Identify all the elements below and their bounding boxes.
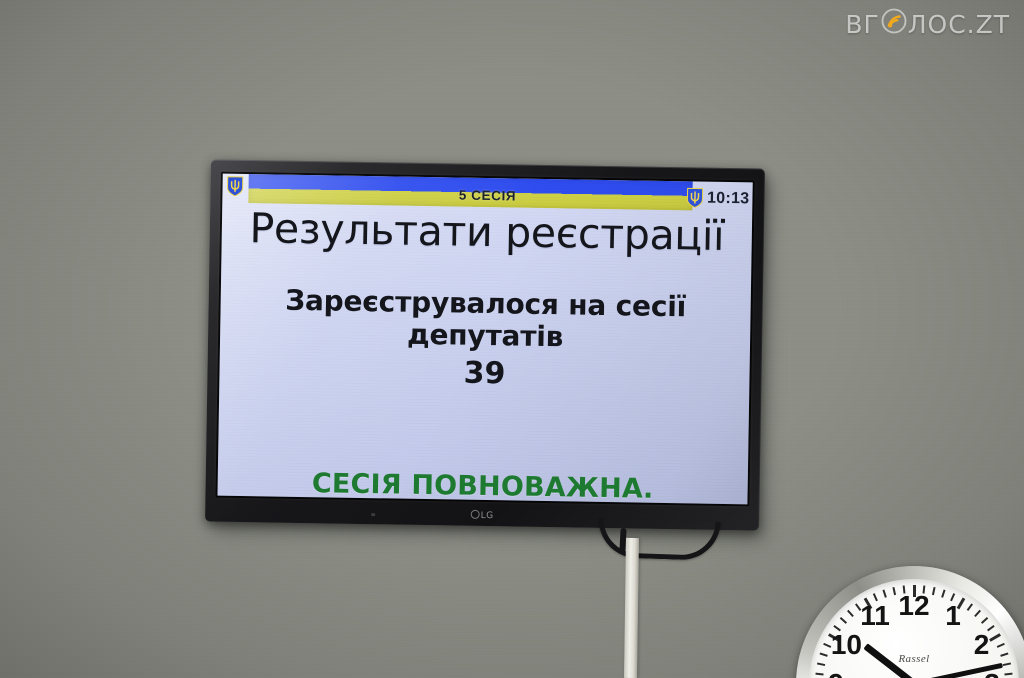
clock-tick: [941, 590, 945, 598]
tv-ir-receiver: [371, 513, 375, 516]
clock-numeral-9: 9: [828, 670, 844, 678]
clock-tick: [989, 633, 1001, 642]
results-headline: Результати реєстрації: [240, 207, 735, 259]
clock-tick: [997, 643, 1005, 648]
clock-numeral-1: 1: [945, 602, 961, 630]
clock-tick: [1003, 662, 1011, 666]
clock-tick: [840, 617, 847, 624]
clock-tick: [882, 590, 886, 598]
clock-tick: [1000, 652, 1008, 656]
ukraine-coat-of-arms-icon-right: [686, 187, 703, 208]
clock-tick: [932, 587, 936, 595]
clock-tick: [820, 652, 828, 656]
clock-tick: [974, 610, 981, 617]
clock-tick: [815, 673, 823, 676]
watermark-vholos-zt: ВГ ЛОС.ZT: [845, 8, 1010, 40]
status-bar-right-group: 10:13: [686, 187, 750, 209]
clock-numeral-2: 2: [974, 631, 990, 659]
clock-numeral-11: 11: [860, 602, 890, 630]
clock-tick: [981, 617, 988, 624]
lg-logo-text: LG: [481, 511, 494, 521]
clock-brand-mark: Rassel: [898, 653, 929, 665]
lg-logo: LG: [471, 510, 494, 521]
wall-mounted-television: 5 СЕСІЯ 10:13 Результати реєстрації: [205, 159, 765, 530]
screen-content: Результати реєстрації Зареєструвалося на…: [219, 203, 752, 396]
tv-screen: 5 СЕСІЯ 10:13 Результати реєстрації: [217, 174, 752, 505]
analog-wall-clock: 121234567891011 Rassel: [796, 566, 1024, 678]
clock-tick: [967, 603, 973, 611]
clock-tick: [892, 587, 896, 595]
registered-count: 39: [237, 352, 732, 395]
clock-tick: [847, 610, 854, 617]
screen-clock: 10:13: [707, 189, 750, 208]
registered-deputies-label: Зареєструвалося на сесії депутатів: [238, 284, 733, 356]
photo-scene: ВГ ЛОС.ZT: [0, 0, 1024, 678]
ukraine-coat-of-arms-icon-left: [226, 176, 243, 197]
watermark-text-before: ВГ: [845, 10, 879, 39]
clock-numeral-10: 10: [831, 631, 862, 659]
cable-conduit: [624, 538, 639, 678]
watermark-text-after: ЛОС.ZT: [908, 10, 1010, 39]
tv-bezel: 5 СЕСІЯ 10:13 Результати реєстрації: [205, 159, 765, 530]
lg-logo-mark: [471, 510, 480, 519]
clock-tick: [1004, 673, 1012, 676]
sound-wave-icon: [881, 8, 907, 40]
clock-tick: [817, 662, 825, 666]
clock-numeral-12: 12: [898, 592, 929, 620]
